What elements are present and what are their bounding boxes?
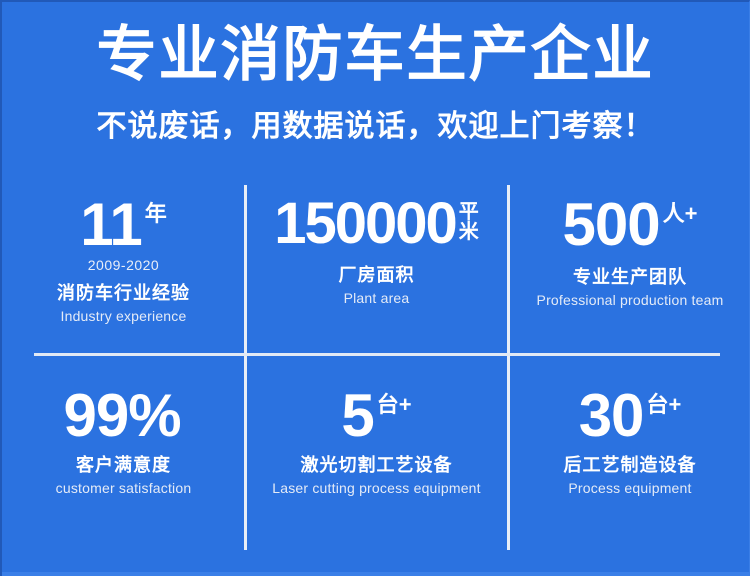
stat-label-en: Professional production team [537, 292, 724, 308]
stat-label-en: Plant area [344, 290, 410, 306]
stat-cell-customer-satisfaction: 99% 客户满意度 customer satisfaction [2, 355, 245, 552]
stat-label-cn: 后工艺制造设备 [564, 451, 697, 477]
stat-number: 500 [563, 196, 660, 255]
stat-unit: 平 米 [459, 202, 479, 242]
stat-value-row: 500 人+ [563, 196, 698, 255]
stat-label-cn: 消防车行业经验 [57, 279, 190, 305]
promo-banner: 专业消防车生产企业 不说废话，用数据说话，欢迎上门考察！ 11 年 2009-2… [0, 0, 750, 576]
stat-value-row: 5 台+ [341, 387, 411, 446]
page-title: 专业消防车生产企业 [2, 20, 749, 91]
page-subtitle: 不说废话，用数据说话，欢迎上门考察！ [2, 107, 749, 146]
stat-unit: 台+ [377, 393, 412, 416]
stat-subvalue: 2009-2020 [88, 257, 159, 273]
stat-number: 30 [579, 387, 644, 446]
stat-label-cn: 专业生产团队 [573, 263, 687, 289]
stat-unit: 台+ [646, 393, 681, 416]
stat-value-row: 30 台+ [579, 387, 682, 446]
stat-cell-process-equipment: 30 台+ 后工艺制造设备 Process equipment [508, 355, 750, 552]
stat-unit: 人+ [663, 202, 698, 225]
stat-cell-industry-experience: 11 年 2009-2020 消防车行业经验 Industry experien… [2, 180, 245, 355]
stat-label-cn: 厂房面积 [339, 261, 415, 287]
stat-unit: 年 [145, 202, 167, 225]
stat-label-cn: 激光切割工艺设备 [301, 451, 453, 477]
stat-number: 150000 [274, 196, 456, 253]
stat-cell-laser-cutting-equipment: 5 台+ 激光切割工艺设备 Laser cutting process equi… [245, 355, 508, 552]
stat-label-en: Process equipment [568, 480, 691, 496]
banner-header: 专业消防车生产企业 不说废话，用数据说话，欢迎上门考察！ [2, 20, 749, 146]
stat-label-en: Laser cutting process equipment [272, 480, 481, 496]
stat-value-row: 99% [63, 387, 183, 446]
stat-cell-production-team: 500 人+ 专业生产团队 Professional production te… [508, 180, 750, 355]
stat-label-en: customer satisfaction [56, 480, 192, 496]
bottom-edge-band [2, 572, 749, 576]
stat-label-cn: 客户满意度 [76, 451, 171, 477]
stat-cell-plant-area: 150000 平 米 厂房面积 Plant area [245, 180, 508, 355]
stat-value-row: 150000 平 米 [274, 196, 479, 253]
stat-number: 11 [80, 196, 141, 255]
stat-number: 5 [341, 387, 373, 446]
stats-grid: 11 年 2009-2020 消防车行业经验 Industry experien… [2, 180, 750, 552]
stat-value-row: 11 年 [80, 196, 166, 255]
stat-number: 99% [63, 387, 180, 446]
stat-label-en: Industry experience [61, 308, 187, 324]
